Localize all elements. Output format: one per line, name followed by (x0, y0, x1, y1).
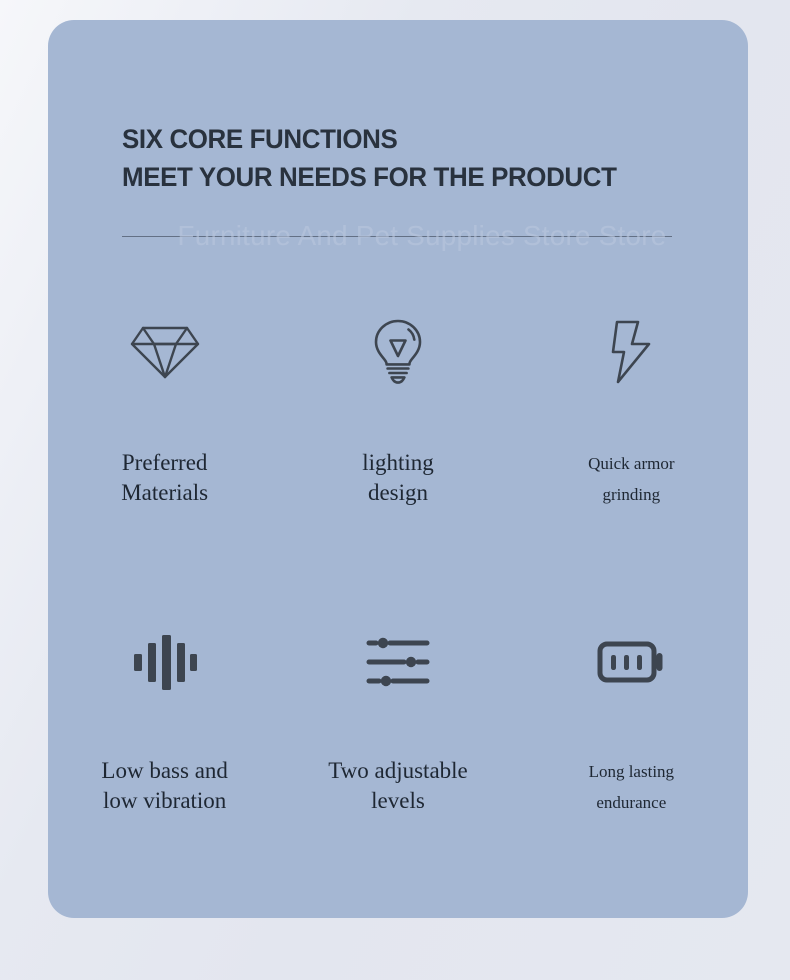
store-watermark: Furniture And Pet Supplies Store Store (125, 220, 719, 252)
diamond-icon (129, 300, 201, 404)
feature-label-line-1: Low bass and (101, 758, 227, 783)
page-title: SIX CORE FUNCTIONS MEET YOUR NEEDS FOR T… (122, 120, 722, 196)
lightning-bolt-icon (607, 300, 655, 404)
feature-label-line-1: Quick armor (588, 454, 674, 473)
feature-item-long-lasting-endurance: Long lasting endurance (515, 610, 748, 920)
lightbulb-icon (370, 300, 426, 404)
feature-label-line-1: lighting (362, 450, 434, 475)
feature-card: SIX CORE FUNCTIONS MEET YOUR NEEDS FOR T… (48, 20, 748, 918)
feature-item-lighting-design: lighting design (281, 300, 514, 610)
divider: Furniture And Pet Supplies Store Store (122, 220, 722, 276)
feature-label-line-2: low vibration (103, 788, 226, 813)
battery-icon (597, 610, 665, 714)
feature-label-line-1: Two adjustable (328, 758, 468, 783)
feature-label: Long lasting endurance (589, 756, 674, 819)
feature-label-line-2: levels (371, 788, 425, 813)
feature-label: Low bass and low vibration (101, 756, 227, 817)
feature-label-line-1: Preferred (122, 450, 208, 475)
feature-item-preferred-materials: Preferred Materials (48, 300, 281, 610)
feature-grid: Preferred Materials lighting design (48, 300, 748, 920)
feature-label-line-2: endurance (596, 793, 666, 812)
sound-wave-icon (132, 610, 198, 714)
feature-item-low-bass-vibration: Low bass and low vibration (48, 610, 281, 920)
feature-label: Quick armor grinding (588, 448, 674, 511)
feature-label: Preferred Materials (121, 448, 208, 509)
feature-item-two-adjustable-levels: Two adjustable levels (281, 610, 514, 920)
feature-label-line-2: grinding (603, 485, 661, 504)
feature-label-line-2: Materials (121, 480, 208, 505)
page-title-line-1: SIX CORE FUNCTIONS (122, 120, 698, 158)
feature-label: lighting design (362, 448, 434, 509)
sliders-icon (366, 610, 430, 714)
feature-item-quick-armor-grinding: Quick armor grinding (515, 300, 748, 610)
feature-label: Two adjustable levels (328, 756, 468, 817)
feature-label-line-1: Long lasting (589, 762, 674, 781)
page-title-line-2: MEET YOUR NEEDS FOR THE PRODUCT (122, 158, 698, 196)
feature-label-line-2: design (368, 480, 428, 505)
